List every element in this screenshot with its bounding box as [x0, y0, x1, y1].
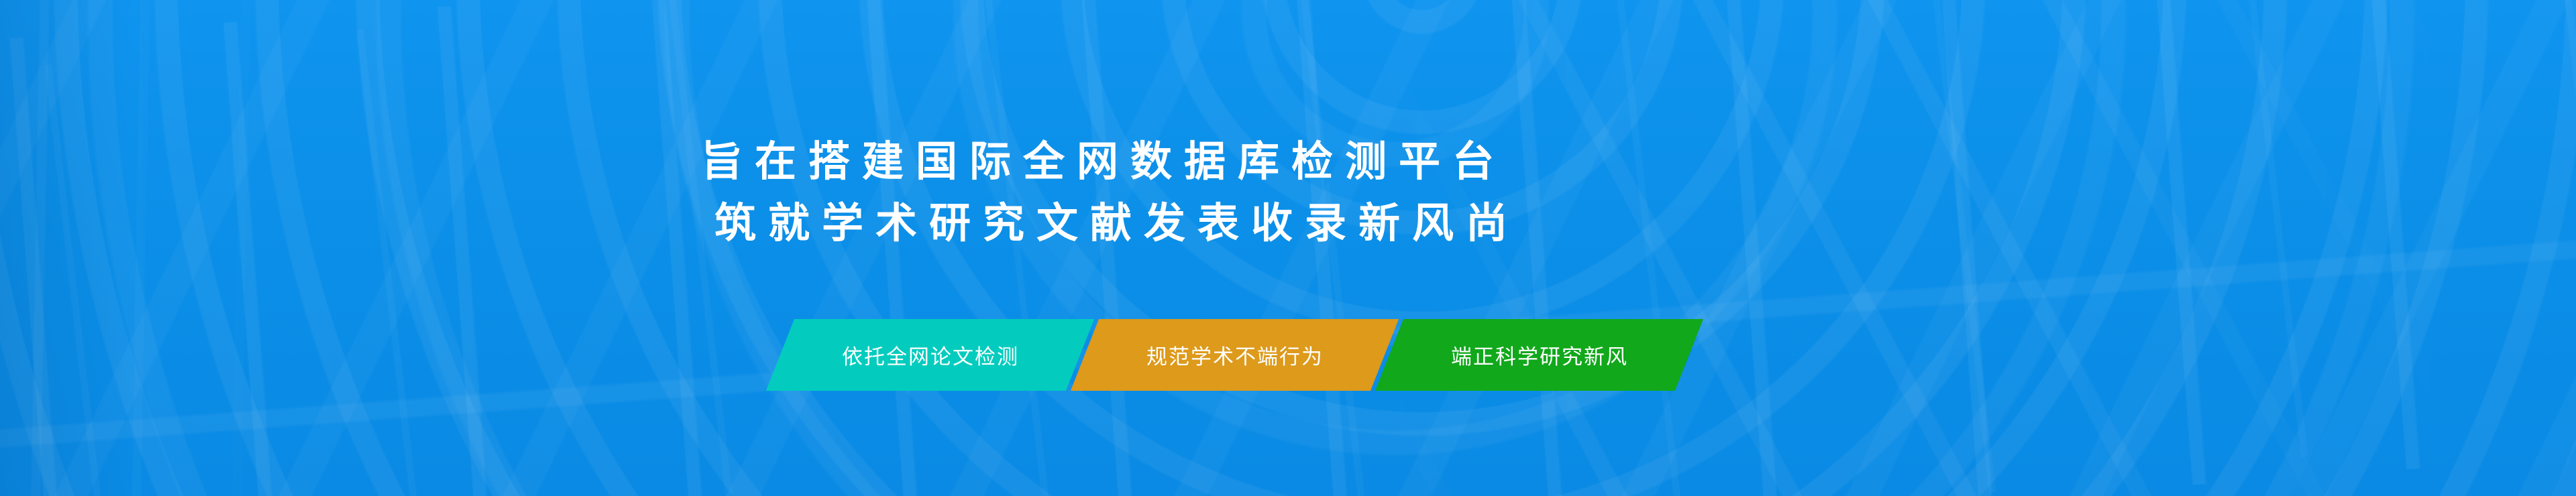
headline-line-2: 筑就学术研究文献发表收录新风尚 [0, 193, 1519, 255]
feature-tag-bar: 依托全网论文检测 规范学术不端行为 端正科学研究新风 [780, 319, 1689, 391]
feature-tag-research-ethics[interactable]: 端正科学研究新风 [1375, 319, 1703, 391]
feature-tag-label: 端正科学研究新风 [1451, 340, 1628, 370]
feature-tag-label: 依托全网论文检测 [842, 340, 1019, 370]
feature-tag-academic-misconduct[interactable]: 规范学术不端行为 [1071, 319, 1399, 391]
hero-banner: 旨在搭建国际全网数据库检测平台 筑就学术研究文献发表收录新风尚 依托全网论文检测… [0, 0, 2576, 496]
feature-tag-label: 规范学术不端行为 [1146, 340, 1324, 370]
headline-line-1: 旨在搭建国际全网数据库检测平台 [0, 131, 1506, 193]
banner-content: 旨在搭建国际全网数据库检测平台 筑就学术研究文献发表收录新风尚 依托全网论文检测… [0, 0, 2576, 496]
feature-tag-plagiarism-detection[interactable]: 依托全网论文检测 [766, 319, 1094, 391]
